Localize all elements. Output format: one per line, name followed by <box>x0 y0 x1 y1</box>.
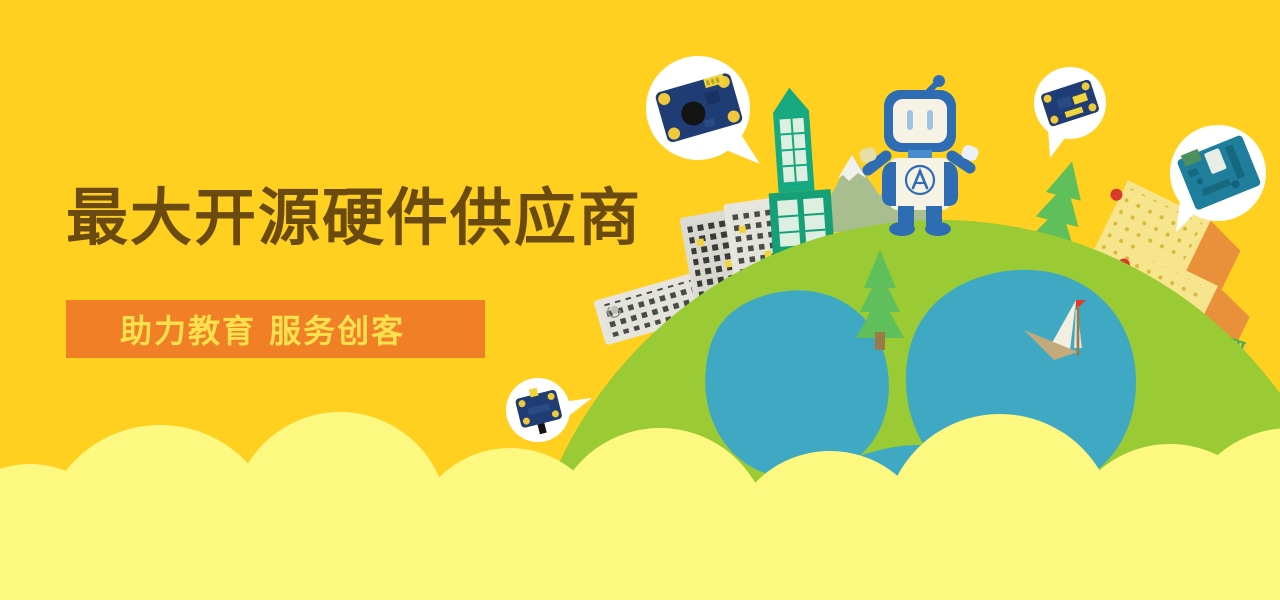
tagline-badge: 助力教育 服务创客 <box>66 300 485 358</box>
page-title: 最大开源硬件供应商 <box>66 186 642 250</box>
hero-banner: 最大开源硬件供应商 助力教育 服务创客 <box>0 0 1280 600</box>
lake-left <box>705 290 889 478</box>
tagline-text: 助力教育 服务创客 <box>66 306 405 352</box>
